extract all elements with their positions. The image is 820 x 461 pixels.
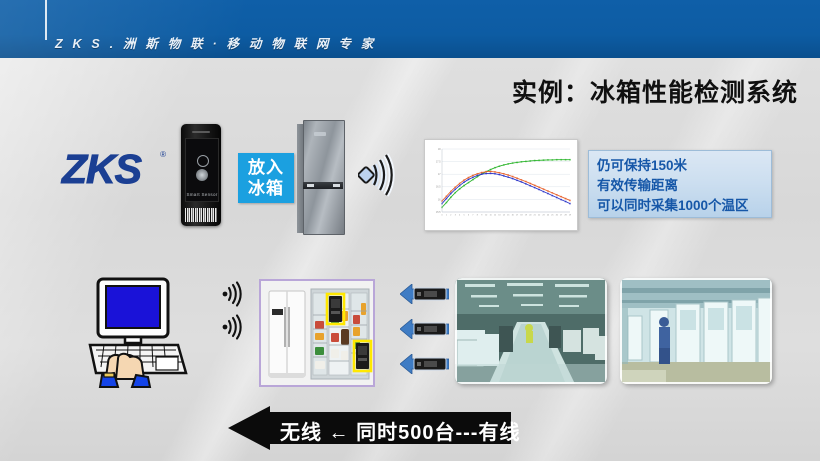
svg-text:4: 4 [459,215,460,217]
banner-label: 无线 ← 同时500台---有线 [280,416,520,445]
callout-line-3: 可以同时采集1000个温区 [597,196,763,216]
line-chart: 1817.51716.51615.5 012345678910111213141… [425,140,577,230]
open-refrigerator-photo [259,279,375,387]
svg-text:12: 12 [494,215,496,217]
device-speaker-slot [192,131,210,133]
svg-text:3: 3 [455,215,456,217]
svg-text:14: 14 [503,215,505,217]
svg-text:18: 18 [520,215,522,217]
fridge-handle-lower [333,184,340,187]
svg-text:21: 21 [534,215,536,217]
sensor-arrow-2 [400,319,449,339]
svg-text:23: 23 [542,215,544,217]
fridge-brand-badge [314,132,326,136]
svg-text:11: 11 [490,215,492,217]
zks-logo-text: ZKS [62,146,141,192]
brand-tagline: Z K S . 洲 斯 物 联 · 移 动 物 联 网 专 家 [55,33,376,52]
svg-text:5: 5 [464,215,465,217]
fridge-body [303,120,345,235]
page-title: 实例：冰箱性能检测系统 [512,73,798,109]
radial-sensor-icon [196,169,208,181]
svg-text:15.5: 15.5 [436,212,441,214]
device-screen: Smart Sensor [185,138,219,202]
svg-text:6: 6 [468,215,469,217]
zks-logo: ZKS ® [62,144,168,196]
svg-text:27: 27 [560,215,562,217]
svg-text:7: 7 [472,215,473,217]
circle-sensor-icon [197,155,209,167]
callout-line-2: 有效传输距离 [597,176,763,196]
wireless-wired-banner: 无线 ← 同时500台---有线 [228,405,511,451]
svg-text:28: 28 [565,215,567,217]
svg-text:16: 16 [512,215,514,217]
performance-chart-card: 1817.51716.51615.5 012345678910111213141… [424,139,578,231]
svg-text:19: 19 [525,215,527,217]
put-in-fridge-line-2: 冰箱 [248,178,284,199]
svg-text:8: 8 [477,215,478,217]
put-in-fridge-label: 放入 冰箱 [238,153,294,203]
svg-text:10: 10 [485,215,487,217]
svg-text:0: 0 [441,215,442,217]
callout-line-1: 仍可保持150米 [597,156,763,176]
barcode-icon [185,208,217,222]
svg-text:22: 22 [538,215,540,217]
wireless-signal-icon [358,148,412,202]
svg-text:15: 15 [507,215,509,217]
svg-text:1: 1 [446,215,447,217]
svg-text:17.5: 17.5 [436,162,441,164]
svg-text:16.5: 16.5 [436,187,441,189]
svg-text:17: 17 [516,215,518,217]
svg-text:9: 9 [481,215,482,217]
sensor-arrow-1 [400,284,449,304]
spec-callout-box: 仍可保持150米 有效传输距离 可以同时采集1000个温区 [588,150,772,218]
refrigerator-testing-line-photo [620,278,772,384]
svg-text:20: 20 [529,215,531,217]
header-divider-line [45,0,47,40]
svg-text:25: 25 [551,215,553,217]
registered-mark-icon: ® [160,150,166,159]
fridge-handle-upper [307,184,314,187]
svg-text:13: 13 [498,215,500,217]
slide-canvas: Z K S . 洲 斯 物 联 · 移 动 物 联 网 专 家 实例：冰箱性能检… [0,0,820,461]
desktop-computer-clipart [68,277,206,389]
svg-text:26: 26 [556,215,558,217]
wireless-signal-icon-1 [220,281,246,307]
svg-text:2: 2 [450,215,451,217]
header-bar: Z K S . 洲 斯 物 联 · 移 动 物 联 网 专 家 [0,0,820,58]
sensor-arrow-3 [400,354,449,374]
handheld-sensor-device: Smart Sensor [181,124,221,226]
svg-text:29: 29 [569,215,571,217]
svg-text:24: 24 [547,215,549,217]
refrigerator-illustration [297,120,343,233]
device-screen-label: Smart Sensor [186,192,218,197]
put-in-fridge-line-1: 放入 [248,157,284,178]
wireless-signal-icon-2 [220,314,246,340]
factory-production-line-photo [455,278,607,384]
